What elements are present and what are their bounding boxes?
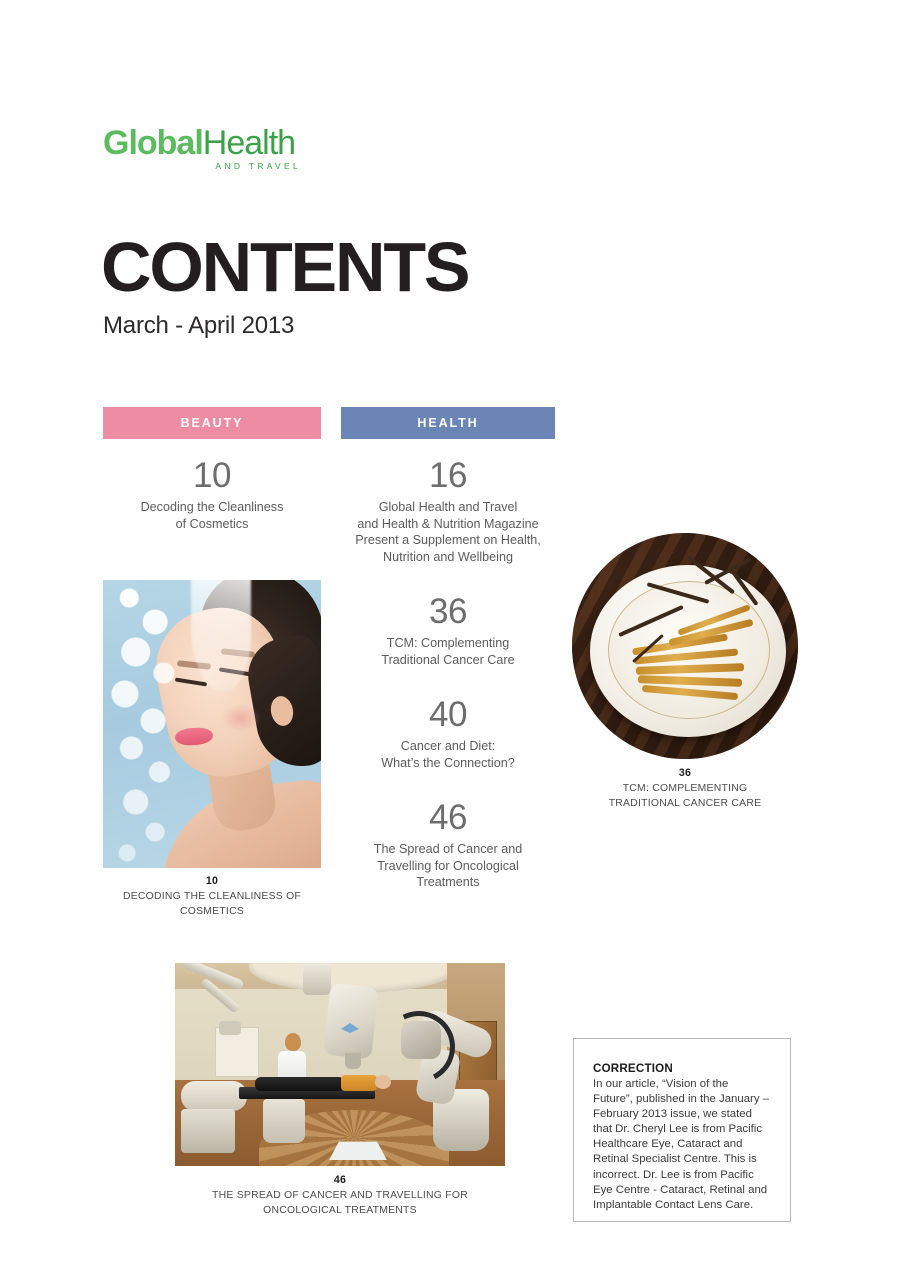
toc-entry-title: TCM: Complementing Traditional Cancer Ca… — [340, 635, 556, 668]
photo-water-splash — [103, 580, 207, 868]
figure-tcm-cordyceps[interactable]: 36 TCM: COMPLEMENTING TRADITIONAL CANCER… — [572, 533, 798, 811]
caption-page-number: 36 — [572, 766, 798, 781]
toc-column-health: 16 Global Health and Travel and Health &… — [340, 455, 556, 891]
logo-word-health: Health — [203, 124, 295, 162]
photo-robot-joint — [401, 1021, 441, 1059]
caption-text: THE SPREAD OF CANCER AND TRAVELLING FOR … — [212, 1190, 468, 1216]
toc-entry-title: Decoding the Cleanliness of Cosmetics — [103, 499, 321, 532]
toc-page-number: 16 — [340, 455, 556, 497]
photo-ceiling-boom-head — [219, 1021, 241, 1035]
photo-woman-water-splash — [103, 580, 321, 868]
toc-entry-title: Cancer and Diet: What’s the Connection? — [340, 738, 556, 771]
toc-entry-title: Global Health and Travel and Health & Nu… — [340, 499, 556, 565]
correction-heading: CORRECTION — [593, 1061, 771, 1076]
toc-column-beauty: 10 Decoding the Cleanliness of Cosmetics — [103, 455, 321, 532]
photo-treatment-table-base — [263, 1099, 305, 1143]
logo-wordmark: GlobalHealth — [103, 126, 303, 160]
caption-text: DECODING THE CLEANLINESS OF COSMETICS — [123, 891, 301, 917]
photo-table-pad — [181, 1081, 247, 1111]
figure-caption: 36 TCM: COMPLEMENTING TRADITIONAL CANCER… — [572, 766, 798, 811]
issue-date: March - April 2013 — [103, 312, 294, 340]
section-banner-beauty[interactable]: BEAUTY — [103, 407, 321, 439]
toc-page-number: 36 — [340, 591, 556, 633]
photo-ceiling-mount — [303, 963, 331, 995]
toc-page-number: 46 — [340, 797, 556, 839]
toc-entry-46[interactable]: 46 The Spread of Cancer and Travelling f… — [340, 797, 556, 891]
figure-caption: 46 THE SPREAD OF CANCER AND TRAVELLING F… — [175, 1173, 505, 1218]
photo-patient-head — [375, 1075, 391, 1089]
magazine-logo: GlobalHealth AND TRAVEL — [103, 126, 303, 171]
photo-table-pedestal — [181, 1109, 235, 1153]
toc-entry-10[interactable]: 10 Decoding the Cleanliness of Cosmetics — [103, 455, 321, 532]
toc-entry-title: The Spread of Cancer and Travelling for … — [340, 841, 556, 891]
caption-text: TCM: COMPLEMENTING TRADITIONAL CANCER CA… — [609, 783, 762, 809]
toc-entry-36[interactable]: 36 TCM: Complementing Traditional Cancer… — [340, 591, 556, 668]
photo-doctor-head — [285, 1033, 301, 1051]
photo-linear-accelerator — [323, 983, 378, 1060]
figure-beauty-cosmetics[interactable]: 10 DECODING THE CLEANLINESS OF COSMETICS — [103, 580, 321, 919]
toc-page-number: 40 — [340, 694, 556, 736]
toc-entry-40[interactable]: 40 Cancer and Diet: What’s the Connectio… — [340, 694, 556, 771]
correction-body: In our article, “Vision of the Future”, … — [593, 1077, 771, 1213]
section-banner-health[interactable]: HEALTH — [341, 407, 555, 439]
photo-radiosurgery-room — [175, 963, 505, 1166]
figure-oncology-treatment-room[interactable]: 46 THE SPREAD OF CANCER AND TRAVELLING F… — [175, 963, 505, 1218]
photo-patient-shirt — [341, 1075, 377, 1091]
figure-caption: 10 DECODING THE CLEANLINESS OF COSMETICS — [103, 874, 321, 919]
photo-accelerator-nozzle — [345, 1053, 361, 1069]
toc-entry-16[interactable]: 16 Global Health and Travel and Health &… — [340, 455, 556, 565]
photo-floor-tile — [329, 1142, 387, 1160]
correction-box: CORRECTION In our article, “Vision of th… — [573, 1038, 791, 1222]
caption-page-number: 46 — [175, 1173, 505, 1188]
toc-page-number: 10 — [103, 455, 321, 497]
photo-cordyceps-on-plate — [572, 533, 798, 759]
logo-tagline: AND TRAVEL — [103, 161, 303, 171]
photo-cheek-blush — [221, 704, 261, 732]
page-title: CONTENTS — [101, 231, 468, 303]
photo-patient-body — [255, 1077, 345, 1091]
caption-page-number: 10 — [103, 874, 321, 889]
logo-word-global: Global — [103, 124, 203, 162]
